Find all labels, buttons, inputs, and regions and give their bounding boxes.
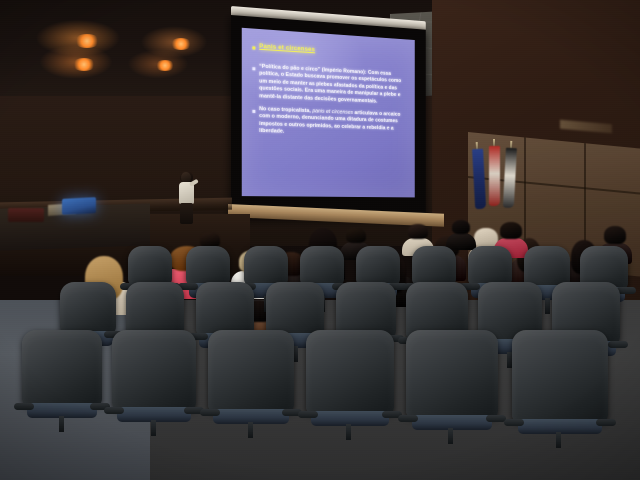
auditorium-seat (300, 246, 344, 286)
square-bullet-icon (252, 67, 255, 70)
auditorium-seat (126, 282, 184, 336)
auditorium-seat (60, 282, 116, 334)
presentation-slide: Panis et circenses “Política do pão e ci… (242, 28, 415, 198)
seat-back (412, 246, 456, 286)
slide-bullet-1-text: “Política do pão e circo” (Império Roman… (259, 64, 407, 107)
downlight-1-icon (74, 34, 100, 48)
seat-armrest-right (596, 419, 616, 426)
seat-armrest-right (608, 341, 628, 348)
hair (500, 222, 522, 239)
seat-back (128, 246, 172, 286)
auditorium-seat (468, 246, 512, 286)
seat-back (196, 282, 254, 336)
auditorium-seat (128, 246, 172, 286)
auditorium-seat (406, 330, 498, 418)
auditorium-seat (512, 330, 608, 422)
seat-back (300, 246, 344, 286)
hair (452, 220, 471, 234)
hair (408, 224, 428, 239)
auditorium-seat (196, 282, 254, 336)
flag-cloth (489, 146, 500, 206)
seat-armrest-left (504, 419, 524, 426)
seat-back (306, 330, 394, 414)
seat-leg (59, 416, 64, 432)
seat-back (512, 330, 608, 422)
slide-bullet-2: No caso tropicalista, panis et circenses… (252, 106, 407, 140)
seat-back (60, 282, 116, 334)
square-bullet-icon (252, 110, 255, 113)
seat-leg (448, 428, 453, 444)
seat-back (406, 330, 498, 418)
projection-screen: Panis et circenses “Política do pão e ci… (231, 6, 426, 218)
seat-back (266, 282, 324, 336)
auditorium-seat (208, 330, 294, 412)
seat-back (126, 282, 184, 336)
seat-back (112, 330, 196, 410)
auditorium-seat (112, 330, 196, 410)
seat-back (208, 330, 294, 412)
presenter-legs (180, 203, 193, 224)
slide-bullet-1: “Política do pão e circo” (Império Roman… (252, 63, 407, 107)
seat-back (186, 246, 230, 286)
screen-frame: Panis et circenses “Política do pão e ci… (231, 15, 426, 218)
slide-title: Panis et circenses (259, 43, 315, 54)
seat-leg (556, 432, 561, 448)
auditorium-seat (244, 246, 288, 286)
auditorium-seat (22, 330, 102, 406)
downlight-2-icon (72, 58, 96, 71)
auditorium-seat (306, 330, 394, 414)
seat-back (22, 330, 102, 406)
seat-armrest-left (398, 415, 418, 422)
seat-armrest-right (486, 415, 506, 422)
seat-leg (248, 422, 253, 438)
seat-back (244, 246, 288, 286)
auditorium-seat (412, 246, 456, 286)
downlight-3-icon (170, 38, 192, 50)
seat-armrest-left (298, 411, 318, 418)
seat-back (468, 246, 512, 286)
auditorium-photo: Panis et circenses “Política do pão e ci… (0, 0, 640, 480)
seat-leg (545, 298, 550, 314)
slide-title-row: Panis et circenses (252, 42, 407, 60)
attendee-back-4 (448, 220, 474, 248)
seat-armrest-left (104, 407, 124, 414)
seat-armrest-left (200, 409, 220, 416)
seat-back (356, 246, 400, 286)
square-bullet-icon (252, 46, 255, 49)
seat-armrest-left (14, 403, 34, 410)
slide-bullet-2-text: No caso tropicalista, panis et circenses… (259, 106, 407, 140)
auditorium-seat (356, 246, 400, 286)
projector-monitor-glow (62, 197, 96, 215)
auditorium-seat (186, 246, 230, 286)
hair (604, 226, 626, 244)
auditorium-seat (266, 282, 324, 336)
downlight-4-icon (155, 60, 175, 71)
seat-leg (346, 424, 351, 440)
seat-leg (151, 420, 156, 436)
hair (346, 228, 366, 243)
av-equipment-box (8, 208, 44, 222)
presenter (176, 172, 198, 224)
